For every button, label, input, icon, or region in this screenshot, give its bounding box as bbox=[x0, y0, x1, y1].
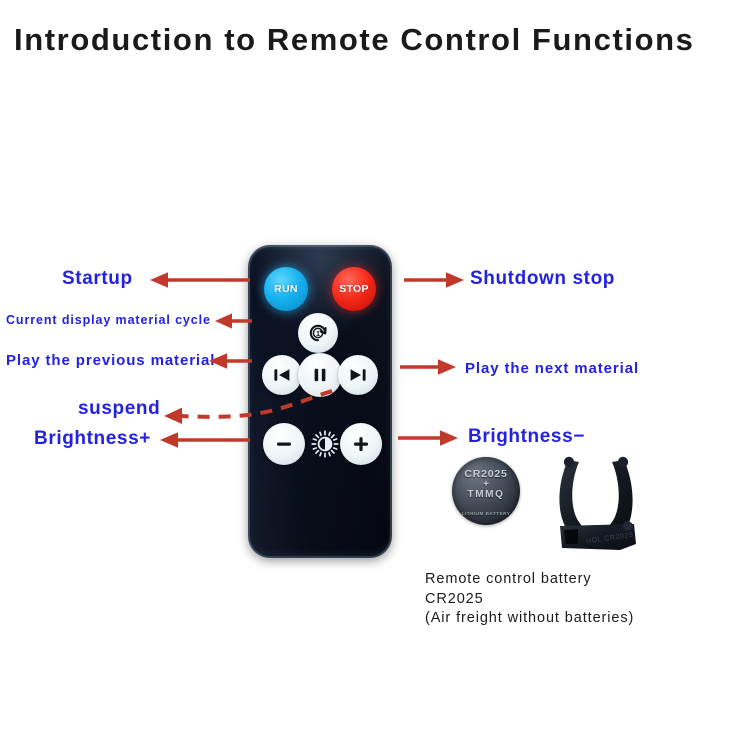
pause-icon bbox=[309, 364, 331, 386]
annotation-play-next-material: Play the next material bbox=[465, 360, 639, 377]
previous-track-icon bbox=[271, 364, 293, 386]
remote-key-stop[interactable]: STOP bbox=[332, 267, 376, 311]
plus-icon bbox=[349, 432, 373, 456]
remote-key-brightness-plus[interactable] bbox=[340, 423, 382, 465]
battery-caption-line-3: (Air freight without batteries) bbox=[425, 609, 634, 629]
annotation-startup: Startup bbox=[62, 268, 133, 290]
annotation-current-display-material-cycle: Current display material cycle bbox=[6, 313, 211, 327]
annotation-shutdown-stop: Shutdown stop bbox=[470, 268, 615, 290]
next-track-icon bbox=[347, 364, 369, 386]
battery-caption-line-1: Remote control battery bbox=[425, 570, 634, 590]
battery-coin-cell: CR2025 + TMMQ LITHIUM BATTERY bbox=[452, 457, 520, 525]
coin-brand: TMMQ bbox=[452, 489, 520, 500]
run-label: RUN bbox=[274, 283, 298, 295]
annotation-brightness-up: Brightness+ bbox=[34, 428, 151, 450]
remote-key-next[interactable] bbox=[338, 355, 378, 395]
annotation-play-previous-material: Play the previous material bbox=[6, 352, 215, 369]
arrow-brightness-up bbox=[158, 430, 252, 450]
arrow-startup bbox=[148, 270, 252, 290]
repeat-one-icon: 1 bbox=[305, 320, 331, 346]
arrow-brightness-down bbox=[398, 428, 460, 448]
arrow-next bbox=[400, 357, 458, 377]
remote-key-run[interactable]: RUN bbox=[264, 267, 308, 311]
page-title: Introduction to Remote Control Functions bbox=[14, 22, 695, 58]
coin-sub-text: LITHIUM BATTERY bbox=[452, 511, 520, 516]
battery-caption: Remote control battery CR2025 (Air freig… bbox=[425, 570, 634, 629]
battery-caption-line-2: CR2025 bbox=[425, 590, 634, 610]
stop-label: STOP bbox=[339, 283, 369, 295]
arrow-shutdown bbox=[404, 270, 466, 290]
arrow-previous bbox=[208, 351, 254, 371]
arrow-suspend-dashed bbox=[162, 385, 334, 433]
battery-holder-clip: HOL CR2025 bbox=[548, 452, 644, 560]
annotation-brightness-down: Brightness− bbox=[468, 426, 585, 448]
arrow-cycle bbox=[214, 311, 254, 331]
annotation-suspend: suspend bbox=[78, 398, 160, 420]
remote-key-cycle[interactable]: 1 bbox=[298, 313, 338, 353]
minus-icon bbox=[272, 432, 296, 456]
